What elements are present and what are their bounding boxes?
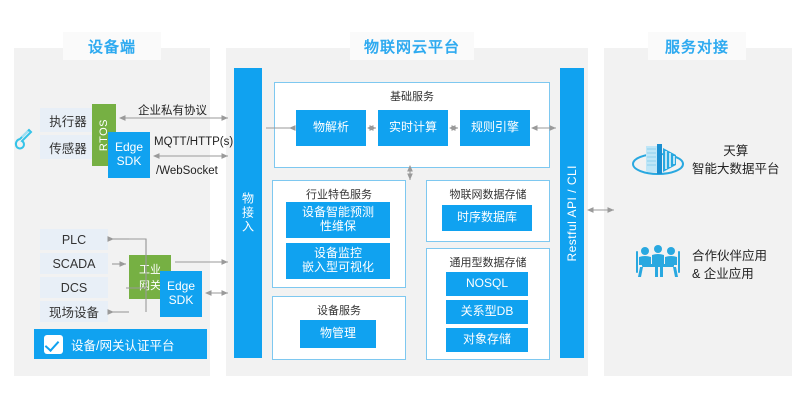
edge-sdk-box-1: Edge SDK [108, 132, 150, 178]
sensor-label: 传感器 [40, 135, 96, 159]
protocol-mid2-label: /WebSocket [156, 165, 218, 177]
cert-platform-label: 设备/网关认证平台 [71, 335, 174, 354]
plc-label: PLC [40, 229, 108, 250]
device-panel [14, 48, 210, 376]
api-vertical-bar: Restful API / CLI [560, 68, 584, 358]
ingest-bar-label: 物接入 [240, 192, 257, 234]
service-item-0-line1: 天算 [692, 142, 780, 160]
service-item-1-line1: 合作伙伴应用 [692, 247, 767, 265]
service-item-1-line2: & 企业应用 [692, 265, 767, 283]
tianuan-bigdata-icon [630, 138, 686, 182]
service-item-0-text: 天算 智能大数据平台 [692, 142, 780, 178]
service-item-0-line2: 智能大数据平台 [692, 160, 780, 178]
industry-service-item-0: 设备智能预测 性维保 [286, 202, 390, 238]
gateway-line1: 工业 [139, 261, 161, 277]
device-service-item-0: 物管理 [300, 320, 376, 348]
service-panel [604, 48, 792, 376]
industry-item1-line2: 嵌入型可视化 [302, 261, 374, 275]
service-panel-title: 服务对接 [648, 32, 746, 60]
partners-people-icon [632, 243, 684, 281]
ingest-vertical-bar: 物接入 [234, 68, 262, 358]
general-storage-caption: 通用型数据存储 [427, 254, 549, 270]
edge-sdk-box-2: Edge SDK [160, 271, 202, 317]
edge-sdk-line2: SDK [117, 155, 142, 169]
basic-service-item-2: 规则引擎 [460, 110, 530, 146]
dcs-label: DCS [40, 277, 108, 298]
protocol-mid-label: MQTT/HTTP(s) [154, 136, 233, 148]
scada-label: SCADA [40, 253, 108, 274]
api-bar-label: Restful API / CLI [565, 165, 579, 262]
device-service-caption: 设备服务 [273, 302, 405, 318]
basic-service-caption: 基础服务 [275, 88, 549, 104]
iot-storage-caption: 物联网数据存储 [427, 186, 549, 202]
edge-sdk2-line2: SDK [169, 294, 194, 308]
field-device-label: 现场设备 [40, 301, 108, 322]
device-panel-title: 设备端 [63, 32, 161, 60]
platform-panel-title: 物联网云平台 [350, 32, 474, 60]
industry-item0-line2: 性维保 [320, 220, 356, 234]
service-item-1-text: 合作伙伴应用 & 企业应用 [692, 247, 767, 283]
edge-sdk-line1: Edge [115, 141, 143, 155]
iot-storage-item-0: 时序数据库 [442, 205, 532, 231]
industry-service-item-1: 设备监控 嵌入型可视化 [286, 243, 390, 279]
basic-service-item-0: 物解析 [296, 110, 366, 146]
cert-platform-bar: 设备/网关认证平台 [34, 329, 207, 359]
protocol-top-label: 企业私有协议 [138, 102, 207, 118]
edge-sdk2-line1: Edge [167, 280, 195, 294]
industry-service-caption: 行业特色服务 [273, 186, 405, 202]
industry-item1-line1: 设备监控 [314, 247, 362, 261]
gateway-line2: 网关 [139, 277, 161, 293]
industry-item0-line1: 设备智能预测 [302, 206, 374, 220]
general-storage-item-1: 关系型DB [446, 300, 528, 324]
actuator-label: 执行器 [40, 108, 96, 132]
general-storage-item-2: 对象存储 [446, 328, 528, 352]
basic-service-item-1: 实时计算 [378, 110, 448, 146]
plug-connector-icon [8, 122, 38, 152]
general-storage-item-0: NOSQL [446, 272, 528, 296]
check-icon [44, 335, 63, 354]
